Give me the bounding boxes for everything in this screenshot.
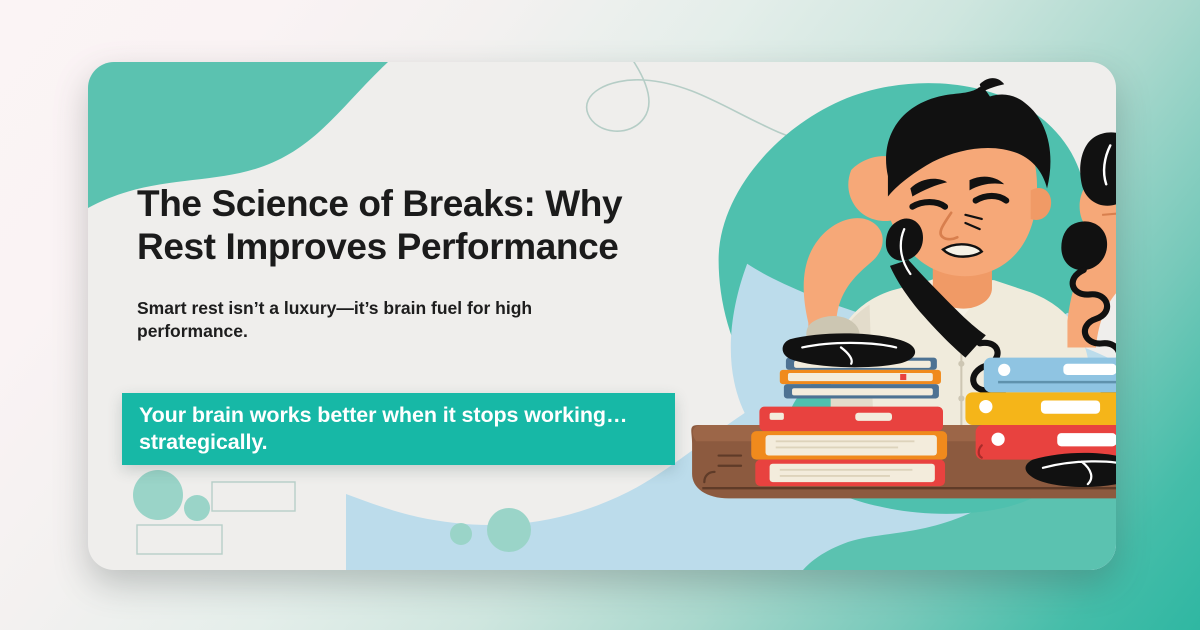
decor-circle-large-left <box>133 470 183 520</box>
illustration-binder-yellow-label <box>1041 400 1100 413</box>
illustration-stressed-worker <box>691 78 1116 514</box>
text-column: The Science of Breaks: Why Rest Improves… <box>137 182 707 343</box>
decor-rect-lower <box>137 525 222 554</box>
illustration-binder-yellow-ring <box>979 400 992 413</box>
decor-circle-small-mid <box>450 523 472 545</box>
promo-canvas: The Science of Breaks: Why Rest Improves… <box>0 0 1200 630</box>
illustration-book-l1-label <box>855 413 892 421</box>
illustration-notebook-2-mark <box>900 374 906 380</box>
page-title: The Science of Breaks: Why Rest Improves… <box>137 182 682 269</box>
illustration-book-l3-pages <box>770 464 935 482</box>
illustration-mouth <box>943 244 982 256</box>
quote-highlight-box: Your brain works better when it stops wo… <box>122 393 675 465</box>
illustration-notebook-2-pages <box>788 373 933 381</box>
decor-circle-small-left <box>184 495 210 521</box>
quote-text: Your brain works better when it stops wo… <box>122 402 675 456</box>
illustration-book-l1 <box>759 407 943 431</box>
promo-card: The Science of Breaks: Why Rest Improves… <box>88 62 1116 570</box>
illustration-binder-red-ring <box>991 433 1004 446</box>
illustration-shirt-button-2 <box>958 395 964 401</box>
decor-rect-upper <box>212 482 295 511</box>
illustration-book-l1-page <box>770 413 784 420</box>
illustration-shirt-button-1 <box>958 361 964 367</box>
illustration-notebook-3-pages <box>792 388 933 395</box>
illustration-book-l2-pages <box>766 435 937 455</box>
illustration-hair-tuft <box>980 78 1004 92</box>
illustration-binder-blue-label <box>1063 364 1116 375</box>
illustration-binder-red-label <box>1057 433 1116 446</box>
illustration-binder-blue-ring <box>998 364 1010 376</box>
subtitle: Smart rest isn’t a luxury—it’s brain fue… <box>137 269 627 344</box>
decor-circle-medium-mid <box>487 508 531 552</box>
